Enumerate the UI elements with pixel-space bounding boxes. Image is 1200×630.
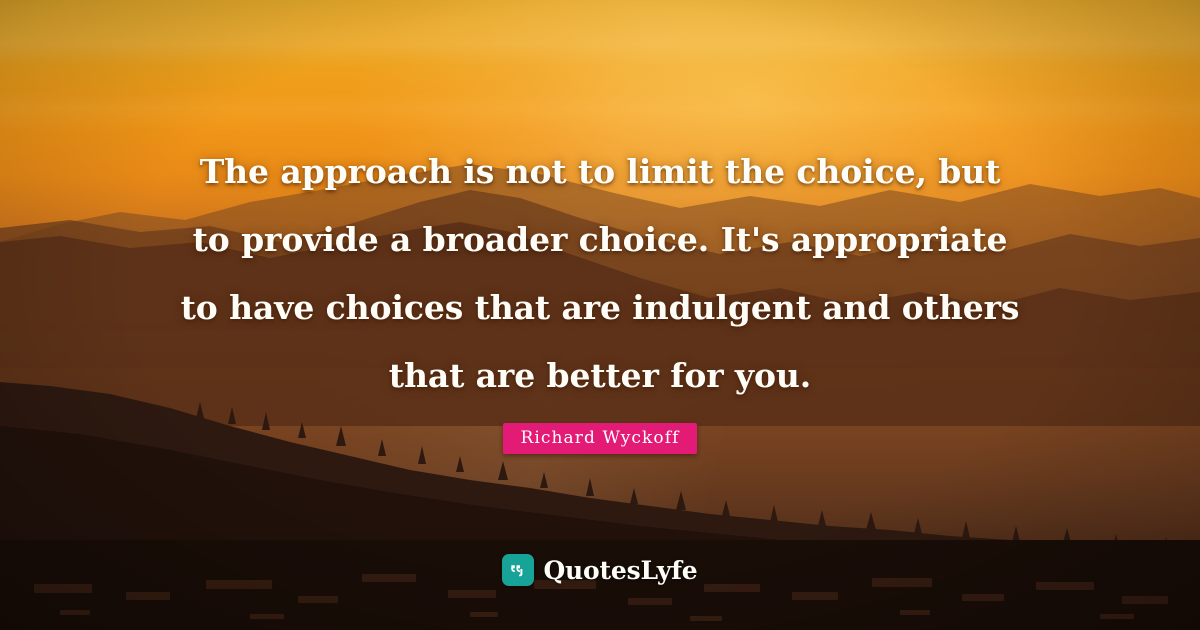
quote-line: to provide a broader choice. It's approp… bbox=[96, 206, 1104, 274]
quote-line: The approach is not to limit the choice,… bbox=[96, 138, 1104, 206]
quote-text: The approach is not to limit the choice,… bbox=[0, 138, 1200, 410]
quote-line: to have choices that are indulgent and o… bbox=[96, 274, 1104, 342]
quote-mark-icon bbox=[502, 554, 534, 586]
quoteslyfe-logo: QuotesLyfe bbox=[0, 554, 1200, 586]
author-attribution: Richard Wyckoff bbox=[0, 423, 1200, 454]
brand-name: QuotesLyfe bbox=[543, 556, 697, 585]
author-name-badge: Richard Wyckoff bbox=[503, 423, 696, 454]
quote-card: The approach is not to limit the choice,… bbox=[0, 0, 1200, 630]
quote-line: that are better for you. bbox=[96, 342, 1104, 410]
